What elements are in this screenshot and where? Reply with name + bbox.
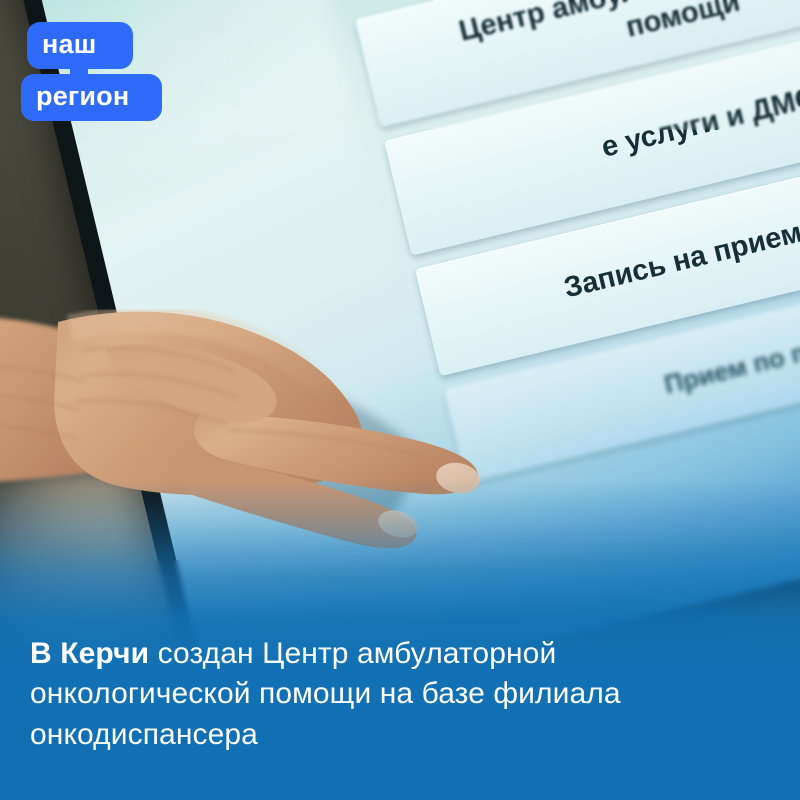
brand-logo-connector: [70, 58, 88, 76]
caption-highlight: В Керчи: [30, 637, 149, 670]
kiosk-menu-item-label: е услуги и ДМС: [598, 81, 800, 167]
social-media-poster: Пожалуйста выберите ну Центр амбулаторно…: [0, 0, 800, 800]
brand-logo[interactable]: наш регион: [21, 22, 181, 112]
kiosk-menu-item-label: Прием по предв: [661, 322, 800, 402]
caption-text: В Керчи создан Центр амбулаторной онколо…: [30, 634, 730, 756]
brand-logo-line-2: регион: [21, 74, 162, 121]
